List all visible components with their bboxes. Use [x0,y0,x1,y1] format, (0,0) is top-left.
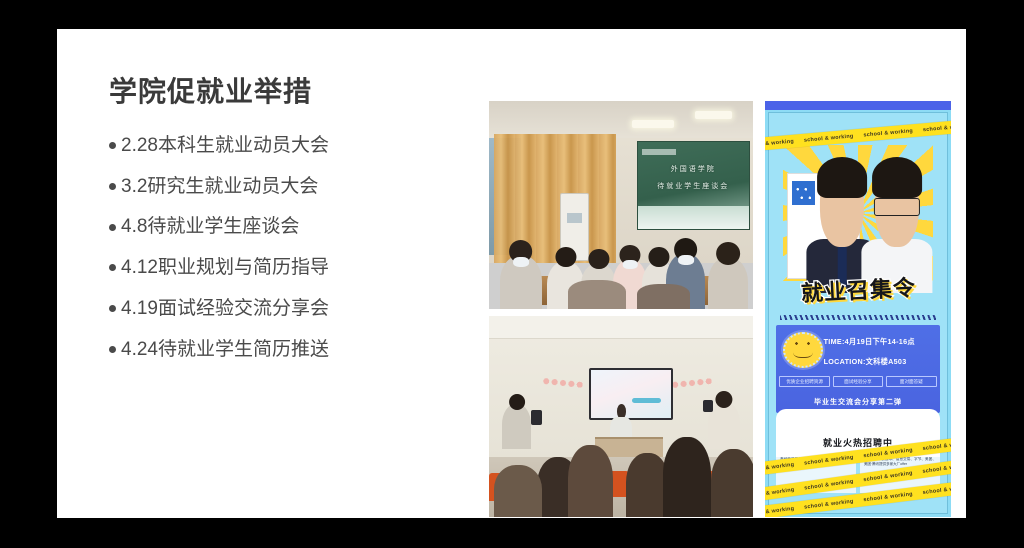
ceiling-light [632,120,674,128]
recruitment-poster: school & working school & working school… [765,101,951,517]
bullet-dot-icon [109,224,116,231]
hair [872,157,922,198]
list-item: 4.24待就业学生简历推送 [109,338,439,362]
screen-title-line1: 外国语学院 [638,164,749,174]
glasses-icon [874,198,920,216]
screen-lower-band [638,206,749,229]
photo-lecture-hall [489,316,753,517]
audience-member [494,465,542,517]
banner-text: school & working [765,485,805,499]
poster-tag: 面试经验分享 [833,376,883,387]
measures-bullet-list: 2.28本科生就业动员大会 3.2研究生就业动员大会 4.8待就业学生座谈会 4… [109,134,439,362]
foreground-attendee [637,284,690,309]
bullet-dot-icon [109,346,116,353]
poster-headline: 就业召集令 [779,269,937,309]
banner-text: school & working [863,490,923,503]
attendee-head [649,247,670,268]
camera-rig [531,410,542,424]
slide-canvas: 学院促就业举措 2.28本科生就业动员大会 3.2研究生就业动员大会 4.8待就… [57,29,966,518]
camera-operator-head [509,394,525,410]
banner-text: school & working [923,122,951,133]
banner-text: school & working [863,127,923,138]
banner-text: school & working [804,497,864,510]
face-mask [678,255,694,265]
screen-accent-bar [632,398,661,402]
list-item-label: 4.8待就业学生座谈会 [121,215,299,239]
photo-meeting-room: 外国语学院 待就业学生座谈会 [489,101,753,309]
page-title: 学院促就业举措 [109,77,439,108]
audience-member [663,437,711,517]
photo-meeting-content: 外国语学院 待就业学生座谈会 [489,101,753,309]
poster-tag: 面对面答疑 [886,376,936,387]
attendee-head [555,247,576,268]
face-mask [623,260,638,269]
attendee-head [716,242,740,265]
text-column: 学院促就业举措 2.28本科生就业动员大会 3.2研究生就业动员大会 4.8待就… [109,77,439,378]
list-item: 4.19面试经验交流分享会 [109,297,439,321]
camera-operator [502,404,531,448]
poster-headline-text: 就业召集令 [800,270,917,308]
list-item-label: 3.2研究生就业动员大会 [121,175,318,199]
list-item-label: 4.19面试经验交流分享会 [121,297,329,321]
poster-top-bar [765,101,951,110]
audience-member [568,445,613,517]
bullet-dot-icon [109,183,116,190]
screen-logo [642,149,675,156]
bullet-dot-icon [109,142,116,149]
event-location: LOCATION:文科楼A503 [824,357,937,367]
list-item: 2.28本科生就业动员大会 [109,134,439,158]
ceiling [489,316,753,339]
list-item-label: 2.28本科生就业动员大会 [121,134,329,158]
list-item: 4.12职业规划与简历指导 [109,256,439,280]
screen-title-line2: 待就业学生座谈会 [638,181,749,191]
poster-tag: 优质企业招聘资源 [779,376,829,387]
list-item: 4.8待就业学生座谈会 [109,215,439,239]
list-item-label: 4.12职业规划与简历指导 [121,256,329,280]
banner-text: school & working [765,504,805,517]
screen-text [591,378,670,384]
slide-stage: 学院促就业举措 2.28本科生就业动员大会 3.2研究生就业动员大会 4.8待就… [0,0,1024,548]
poster-info-box: TIME:4月19日下午14-16点 LOCATION:文科楼A503 优质企业… [776,325,940,413]
foreground-attendee [568,280,626,309]
stripe-divider [780,315,937,320]
bullet-dot-icon [109,264,116,271]
hair [817,157,867,198]
poster-subline: 毕业生交流会分享第二弹 [776,397,940,407]
attendee-head [588,249,609,270]
audience-member [626,453,668,517]
ceiling-light [695,111,732,118]
face-mask [513,257,529,267]
photo-lecture-content [489,316,753,517]
poster-body: school & working school & working school… [768,112,948,514]
presentation-screen [589,368,672,420]
banner-text: school & working [765,137,804,148]
poster-tag-list: 优质企业招聘资源 面试经验分享 面对面答疑 [779,376,936,387]
banner-text: school & working [804,132,864,143]
bullet-dot-icon [109,305,116,312]
phone-icon [703,400,714,412]
list-item-label: 4.24待就业学生简历推送 [121,338,329,362]
smiley-icon [783,332,823,368]
list-item: 3.2研究生就业动员大会 [109,175,439,199]
audience-member [711,449,753,517]
projector-screen: 外国语学院 待就业学生座谈会 [637,141,750,230]
event-time: TIME:4月19日下午14-16点 [824,337,937,347]
